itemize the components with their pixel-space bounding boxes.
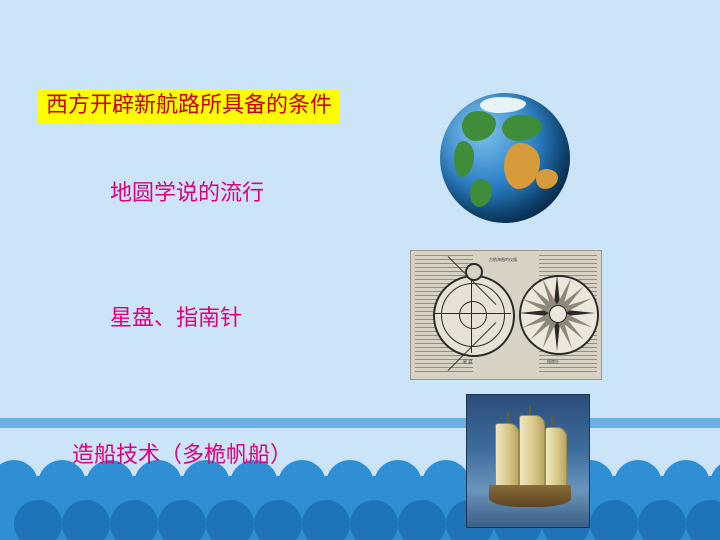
compass-label: 指南针 bbox=[547, 359, 559, 365]
astrolabe-crosshair bbox=[471, 275, 472, 353]
scallop-shape bbox=[158, 500, 206, 540]
scallop-shape bbox=[686, 500, 720, 540]
scallop-shape bbox=[206, 500, 254, 540]
scallop-shape bbox=[254, 500, 302, 540]
compass-hub bbox=[549, 305, 567, 323]
astrolabe-center-ring bbox=[459, 301, 487, 329]
scallop-shape bbox=[350, 500, 398, 540]
plate-header-label: 古航海图的仪器 bbox=[489, 257, 517, 263]
sailing-ship-image bbox=[466, 394, 590, 528]
scallop-shape bbox=[638, 500, 686, 540]
slide-canvas: 西方开辟新航路所具备的条件 地圆学说的流行 星盘、指南针 造船技术（多桅帆船） … bbox=[0, 0, 720, 540]
bullet-text-3: 造船技术（多桅帆船） bbox=[72, 437, 292, 469]
astrolabe-label: 星 盘 bbox=[463, 359, 472, 365]
scallop-shape bbox=[398, 500, 446, 540]
bullet-text-2: 星盘、指南针 bbox=[110, 300, 242, 332]
globe-landmass bbox=[480, 97, 526, 113]
scallop-shape bbox=[110, 500, 158, 540]
globe-landmass bbox=[536, 169, 558, 189]
bullet-text-1: 地圆学说的流行 bbox=[110, 175, 264, 207]
globe-landmass bbox=[462, 111, 496, 141]
astrolabe-crosshair bbox=[433, 313, 511, 314]
ship-sail bbox=[545, 427, 567, 487]
astrolabe-suspension-ring bbox=[465, 263, 483, 281]
ship-water bbox=[467, 507, 589, 527]
scallop-shape bbox=[62, 500, 110, 540]
ship-sail bbox=[495, 423, 519, 487]
scallop-shape bbox=[590, 500, 638, 540]
globe-landmass bbox=[470, 179, 492, 207]
astrolabe-compass-image: 古航海图的仪器 星 盘 bbox=[410, 250, 602, 380]
globe-image bbox=[435, 88, 575, 228]
globe-sphere bbox=[440, 93, 570, 223]
scallop-shape bbox=[302, 500, 350, 540]
ship-sail bbox=[519, 415, 545, 487]
globe-landmass bbox=[502, 115, 542, 141]
scallop-shape bbox=[14, 500, 62, 540]
decorative-scallop-row-lower bbox=[14, 500, 720, 540]
globe-landmass bbox=[504, 143, 540, 189]
decorative-band-upper bbox=[0, 418, 720, 428]
ship-hull bbox=[489, 485, 571, 507]
slide-title: 西方开辟新航路所具备的条件 bbox=[38, 90, 340, 124]
globe-landmass bbox=[454, 141, 474, 177]
